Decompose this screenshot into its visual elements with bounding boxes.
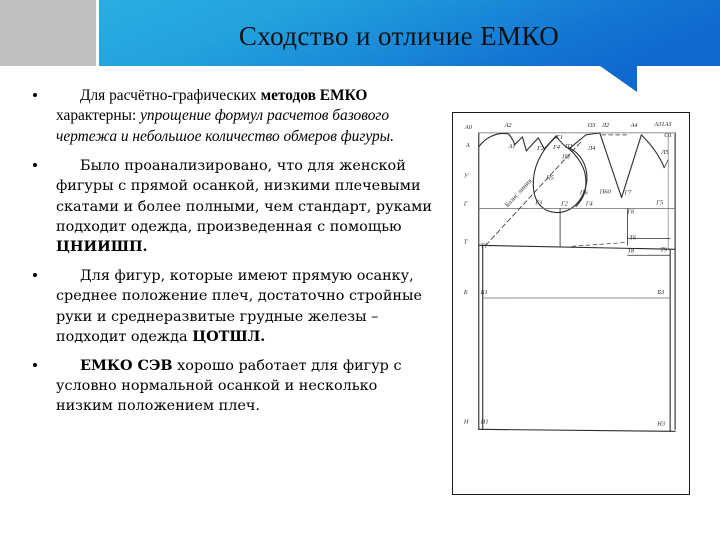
drawing-label: Г6 bbox=[627, 208, 636, 215]
bullet-3-run-2: ЦОТШЛ. bbox=[192, 328, 265, 345]
drawing-label: Г bbox=[463, 201, 468, 208]
drawing-label: А2 bbox=[504, 122, 513, 129]
drawing-label: Г3 bbox=[534, 200, 542, 207]
bullet-text-2: Было проанализировано, что для женской ф… bbox=[56, 156, 434, 257]
list-item: ЕМКО СЭВ хорошо работает для фигур с усл… bbox=[22, 356, 434, 417]
bullet-dot-icon bbox=[33, 93, 37, 97]
drawing-label: П6 bbox=[579, 190, 589, 197]
bullet-2-run-2: ЦНИИШП. bbox=[56, 238, 148, 255]
page-title: Сходство и отличие ЕМКО bbox=[99, 19, 699, 53]
drawing-label: Т6 bbox=[630, 234, 638, 241]
content-area: Для расчётно-графических методов ЕМКО ха… bbox=[0, 80, 720, 540]
drawing-label: Г2 bbox=[560, 201, 569, 208]
bullet-text-3: Для фигур, которые имеют прямую осанку, … bbox=[56, 266, 434, 347]
drawing-label: О1 bbox=[664, 132, 672, 139]
drawing-label: Л4 bbox=[587, 145, 596, 152]
drawing-label: Т bbox=[464, 238, 468, 245]
drawing-label: Т8 bbox=[628, 247, 636, 254]
drawing-label: Н3 bbox=[656, 420, 665, 427]
drawing-label: П5 bbox=[545, 175, 554, 182]
drawing-label: Н bbox=[463, 418, 469, 425]
diagonal-label: Базис линия bbox=[503, 176, 534, 209]
list-item: Было проанализировано, что для женской ф… bbox=[22, 156, 434, 257]
drawing-label: Г7 bbox=[624, 190, 633, 197]
drawing-label: Л5 bbox=[660, 149, 668, 156]
drawing-label: А31А3 bbox=[653, 121, 671, 128]
drawing-label: Г2 bbox=[536, 145, 545, 152]
drawing-label: Б3 bbox=[656, 289, 664, 296]
pattern-drawing-svg: Базис линия А0АА2А1Г2Г1Г4П1П3П5О3Л2А4А31… bbox=[453, 113, 689, 494]
drawing-label: Г4 bbox=[552, 144, 561, 151]
drawing-label: Н1 bbox=[480, 418, 489, 425]
bullet-2-run-1: Было проанализировано, что для женской ф… bbox=[56, 158, 432, 235]
bullet-list: Для расчётно-графических методов ЕМКО ха… bbox=[22, 86, 434, 426]
bullet-text-1: Для расчётно-графических методов ЕМКО ха… bbox=[56, 86, 434, 147]
drawing-label: Б1 bbox=[480, 289, 488, 296]
drawing-label: Т9 bbox=[660, 246, 668, 253]
bullet-1-run-2: методов ЕМКО bbox=[261, 87, 368, 104]
drawing-label: П1 bbox=[564, 143, 573, 150]
bullet-text-4: ЕМКО СЭВ хорошо работает для фигур с усл… bbox=[56, 356, 434, 417]
bullet-1-run-3: характерны: bbox=[56, 107, 140, 124]
banner-polygon bbox=[99, 0, 720, 92]
bullet-dot-icon bbox=[33, 273, 37, 277]
drawing-label: А0 bbox=[464, 124, 473, 131]
list-item: Для расчётно-графических методов ЕМКО ха… bbox=[22, 86, 434, 147]
gray-decoration-block bbox=[0, 0, 96, 66]
drawing-label: Г5 bbox=[655, 200, 663, 207]
drawing-label: Т1 bbox=[481, 242, 488, 249]
drawing-label: Б bbox=[463, 289, 468, 296]
drawing-label: А bbox=[465, 142, 470, 149]
drawing-label: О3 bbox=[588, 122, 596, 129]
bullet-dot-icon bbox=[33, 363, 37, 367]
drawing-label: У bbox=[464, 173, 469, 180]
drawing-point-labels: А0АА2А1Г2Г1Г4П1П3П5О3Л2А4А31А3О1Л4Л5Г7УГ… bbox=[463, 121, 672, 427]
bullet-1-run-1: Для расчётно-графических bbox=[80, 87, 261, 104]
bullet-4-run-1: ЕМКО СЭВ bbox=[80, 357, 173, 374]
drawing-label: П3 bbox=[561, 154, 570, 161]
pattern-drawing-image: Базис линия А0АА2А1Г2Г1Г4П1П3П5О3Л2А4А31… bbox=[452, 112, 690, 495]
drawing-label: П60 bbox=[599, 189, 612, 196]
bullet-dot-icon bbox=[33, 163, 37, 167]
drawing-label: Л2 bbox=[601, 122, 610, 129]
drawing-label: А1 bbox=[508, 143, 516, 150]
drawing-label: Г4 bbox=[585, 201, 594, 208]
list-item: Для фигур, которые имеют прямую осанку, … bbox=[22, 266, 434, 347]
drawing-label: А4 bbox=[629, 122, 638, 129]
drawing-label: Г1 bbox=[555, 134, 563, 141]
